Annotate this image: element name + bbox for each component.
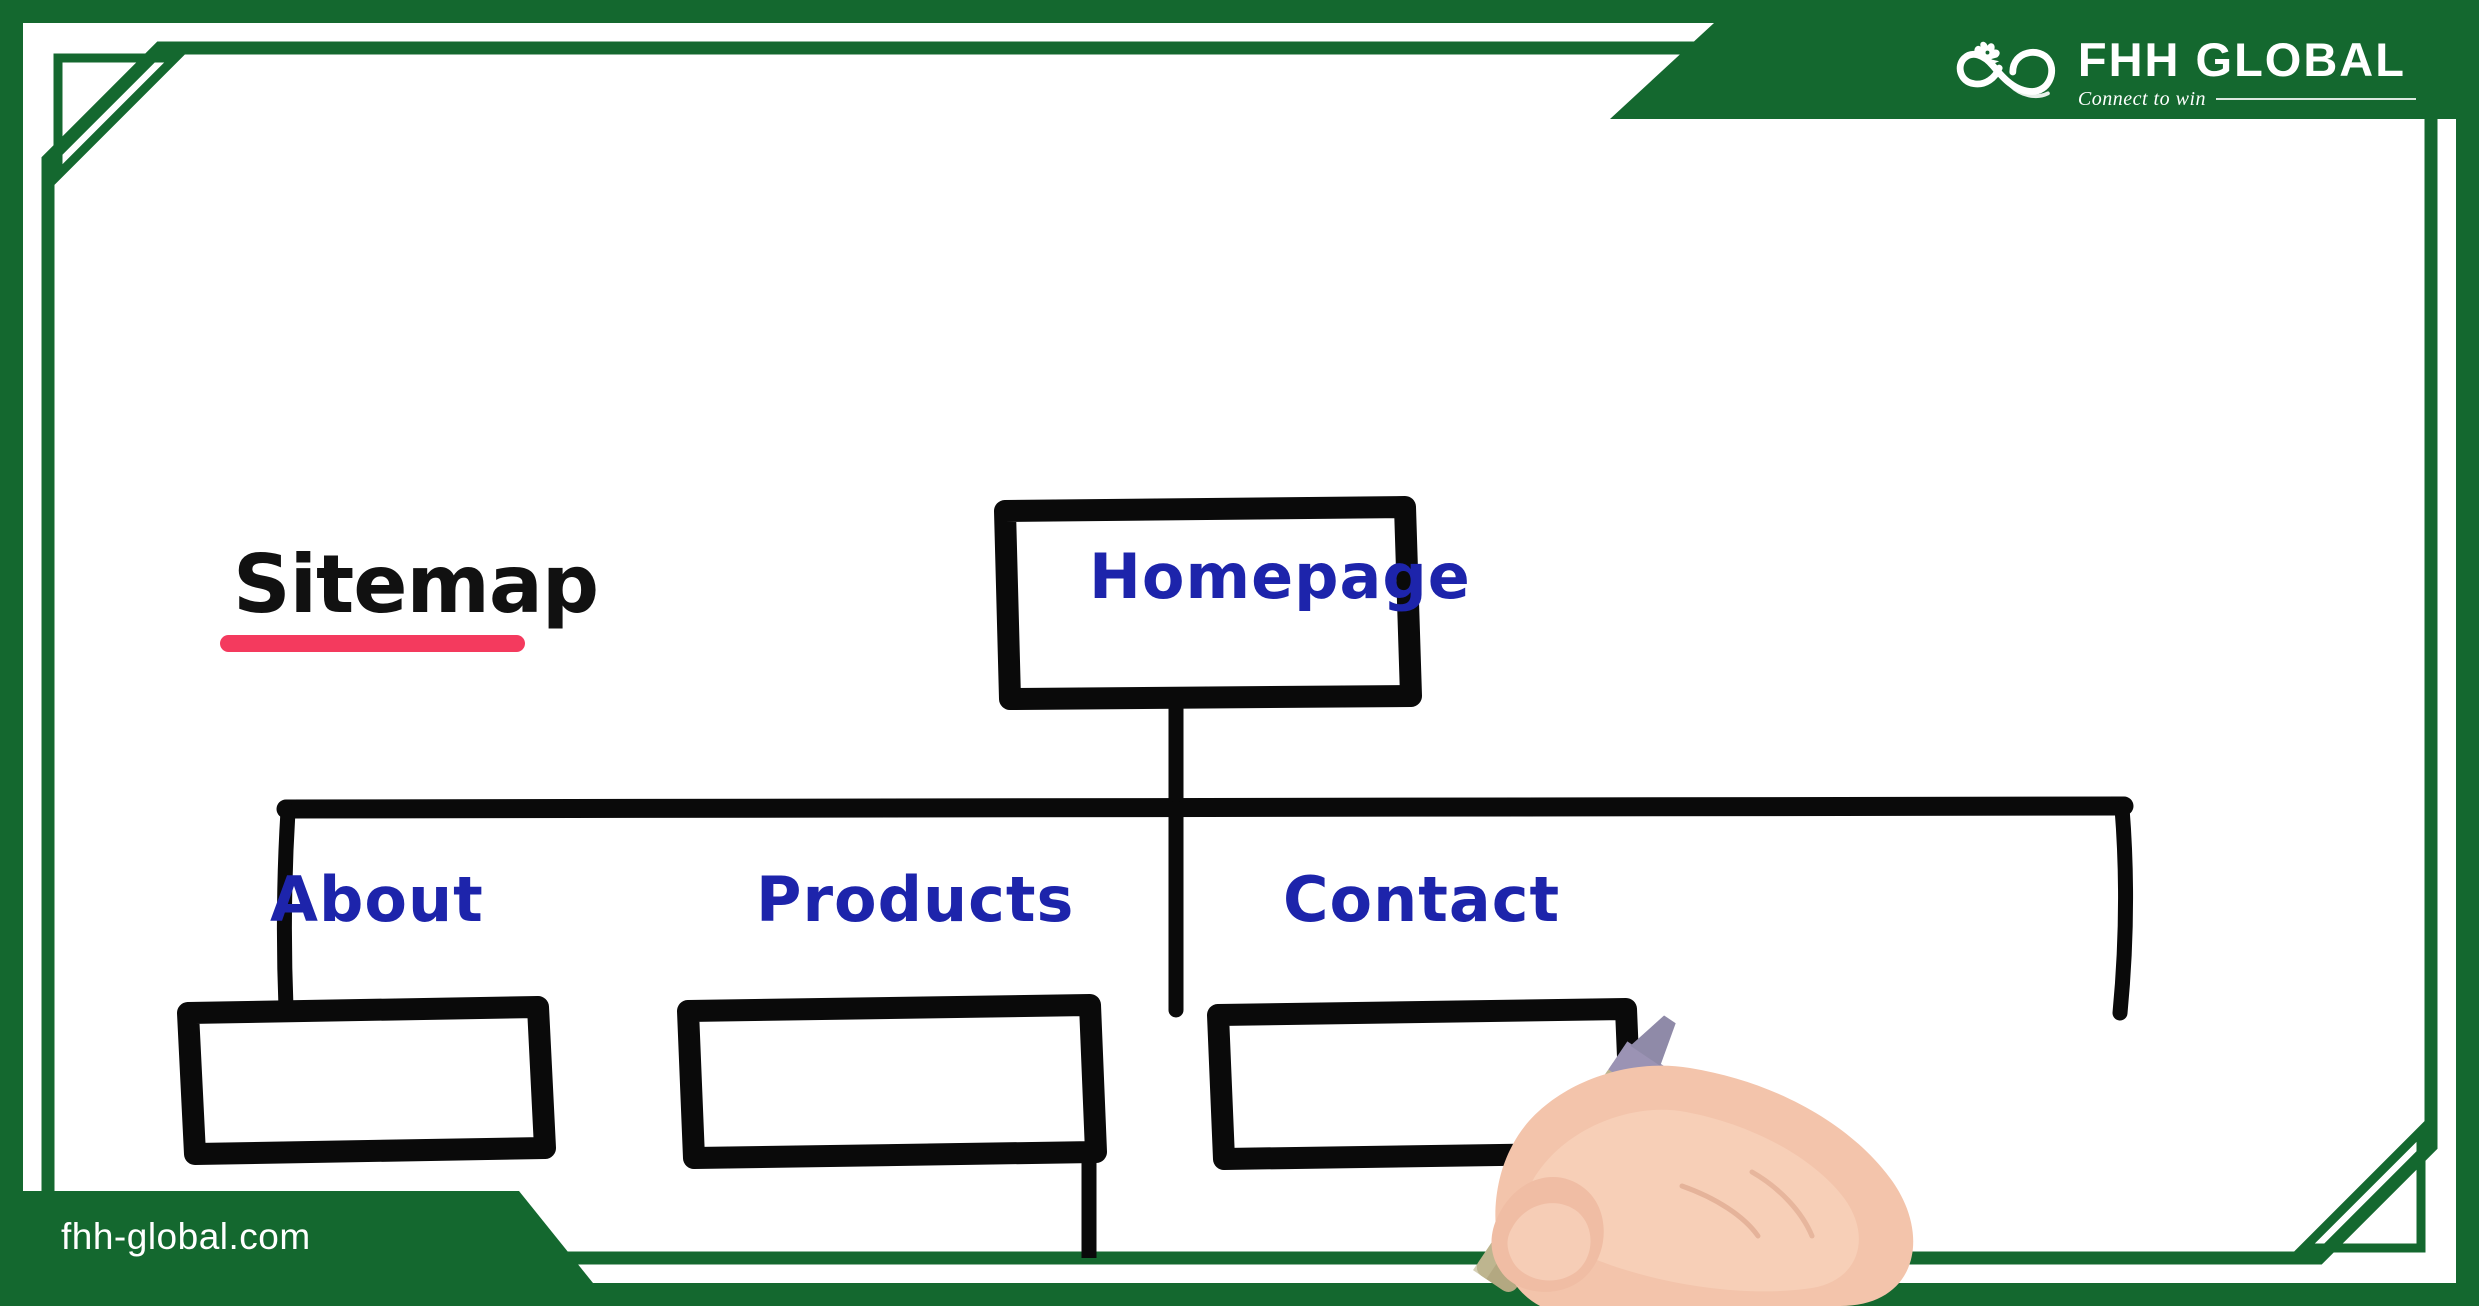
node-box-about bbox=[188, 1007, 545, 1154]
page-title-underline bbox=[220, 635, 525, 652]
node-box-products bbox=[688, 1005, 1096, 1158]
page-title: Sitemap bbox=[233, 538, 598, 631]
node-label-contact[interactable]: Contact bbox=[1283, 863, 1560, 936]
connector-drop-contact bbox=[2120, 808, 2126, 1013]
node-label-products[interactable]: Products bbox=[756, 863, 1074, 936]
whiteboard-canvas: Sitemap Homepage About Products Contact bbox=[48, 48, 2431, 1258]
node-label-homepage[interactable]: Homepage bbox=[1089, 540, 1471, 613]
sitemap-diagram bbox=[48, 48, 2431, 1258]
connector-horizontal-bus bbox=[286, 806, 2124, 809]
node-box-contact bbox=[1218, 1009, 1632, 1159]
node-label-about[interactable]: About bbox=[270, 863, 484, 936]
footer-url-banner: fhh-global.com bbox=[23, 1191, 593, 1283]
footer-url-text[interactable]: fhh-global.com bbox=[61, 1216, 311, 1258]
